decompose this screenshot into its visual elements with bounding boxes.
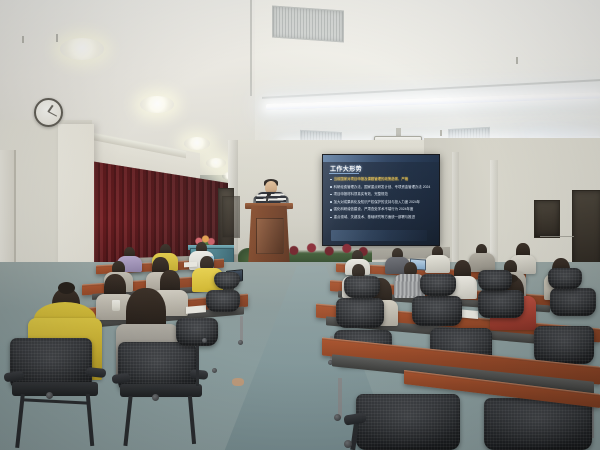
- chair[interactable]: [420, 274, 456, 296]
- desk-leg: [338, 378, 342, 418]
- slide-bullet: 当前国家对项目申报及课题管理的政策趋紧、严格: [330, 177, 434, 182]
- document: [184, 262, 197, 268]
- chair[interactable]: [214, 272, 240, 289]
- downlight: [140, 96, 174, 113]
- attendee-hair-bun: [58, 282, 75, 294]
- chair[interactable]: [356, 394, 460, 450]
- bullet-dot-icon: [330, 201, 332, 203]
- light-bracket: [56, 34, 58, 42]
- chair[interactable]: [484, 398, 592, 450]
- light-bracket: [440, 130, 442, 136]
- chair[interactable]: [344, 276, 380, 298]
- chair-caster: [344, 440, 352, 448]
- chair[interactable]: [412, 296, 462, 326]
- chair-leg: [196, 346, 199, 386]
- slide-surface: 工作大形势 当前国家对项目申报及课题管理的政策趋紧、严格科研经费管理办法、国家重…: [323, 155, 439, 245]
- slide-title-underline: [329, 173, 359, 174]
- slide-bullet-text: 加大对成果转化及知识产权保护的支持与投入力度 2024年: [334, 200, 420, 205]
- desk-caster: [238, 340, 243, 345]
- ceiling-seam: [250, 0, 252, 96]
- slide-bullet: 加大对成果转化及知识产权保护的支持与投入力度 2024年: [330, 200, 434, 205]
- light-bracket: [516, 57, 518, 64]
- clock-minute-hand: [48, 111, 57, 117]
- wall-panel: [222, 196, 240, 238]
- podium-front-panel: [256, 218, 284, 254]
- slide-bullet-text: 强化科研诚信建设，严肃查处学术不端行为 2024年度: [334, 207, 414, 212]
- chair-caster: [212, 368, 217, 373]
- wall-pilaster: [452, 152, 459, 264]
- attendee-foot: [232, 378, 244, 386]
- wall-clock: [34, 98, 63, 127]
- wall-panel: [572, 190, 600, 270]
- chair[interactable]: [176, 318, 218, 346]
- slide-bullet-text: 科研经费管理办法、国家重点研发计划、专项资金管理办法 2024: [334, 185, 431, 190]
- chair-armrest: [86, 367, 107, 378]
- bullet-dot-icon: [330, 217, 332, 219]
- slide-bullet-list: 当前国家对项目申报及课题管理的政策趋紧、严格科研经费管理办法、国家重点研发计划、…: [330, 177, 434, 223]
- slide-bullet: 项目申报材料须真实有效、完整规范: [330, 192, 434, 197]
- slide-bullet: 科研经费管理办法、国家重点研发计划、专项资金管理办法 2024: [330, 185, 434, 190]
- chair[interactable]: [206, 290, 240, 312]
- slide-bullet-text: 重点领域、关键技术、基础研究等方面统一部署与推进: [334, 215, 415, 220]
- slide-bullet: 重点领域、关键技术、基础研究等方面统一部署与推进: [330, 215, 434, 220]
- chair[interactable]: [534, 326, 594, 364]
- bullet-dot-icon: [330, 209, 332, 211]
- desk-caster: [334, 414, 341, 421]
- conference-room-photo: 卷 工作大形势 当前国家对项目申报及课题管理的政策趋紧、严格科研经费管理办法、国…: [0, 0, 600, 450]
- downlight: [60, 38, 104, 60]
- chair-caster: [46, 392, 53, 399]
- coffee-cup: [112, 300, 120, 311]
- bullet-dot-icon: [330, 186, 332, 188]
- chair[interactable]: [548, 268, 582, 289]
- downlight: [184, 137, 210, 150]
- chair[interactable]: [550, 288, 596, 316]
- chair[interactable]: [336, 298, 384, 328]
- slide-bullet: 强化科研诚信建设，严肃查处学术不端行为 2024年度: [330, 207, 434, 212]
- projection-screen: 工作大形势 当前国家对项目申报及课题管理的政策趋紧、严格科研经费管理办法、国家重…: [322, 154, 440, 246]
- bullet-dot-icon: [330, 194, 332, 196]
- chair[interactable]: [478, 290, 524, 318]
- slide-bullet-text: 当前国家对项目申报及课题管理的政策趋紧、严格: [334, 177, 409, 182]
- slide-bullet-text: 项目申报材料须真实有效、完整规范: [334, 192, 388, 197]
- desk-leg: [240, 316, 243, 342]
- slide-header-band: [323, 155, 439, 162]
- slide-title: 工作大形势: [330, 164, 362, 173]
- wall-trim: [540, 236, 574, 237]
- wall-panel: [534, 200, 560, 238]
- ac-vent: [272, 5, 344, 42]
- chair-armrest: [190, 369, 209, 380]
- attendee-torso: [425, 255, 450, 273]
- chair-caster: [152, 394, 159, 401]
- microphone-icon: [267, 192, 271, 196]
- chair-caster: [202, 338, 207, 343]
- light-bracket: [22, 36, 24, 43]
- bullet-dot-icon: [330, 179, 332, 181]
- downlight: [206, 158, 226, 168]
- chair[interactable]: [478, 270, 512, 291]
